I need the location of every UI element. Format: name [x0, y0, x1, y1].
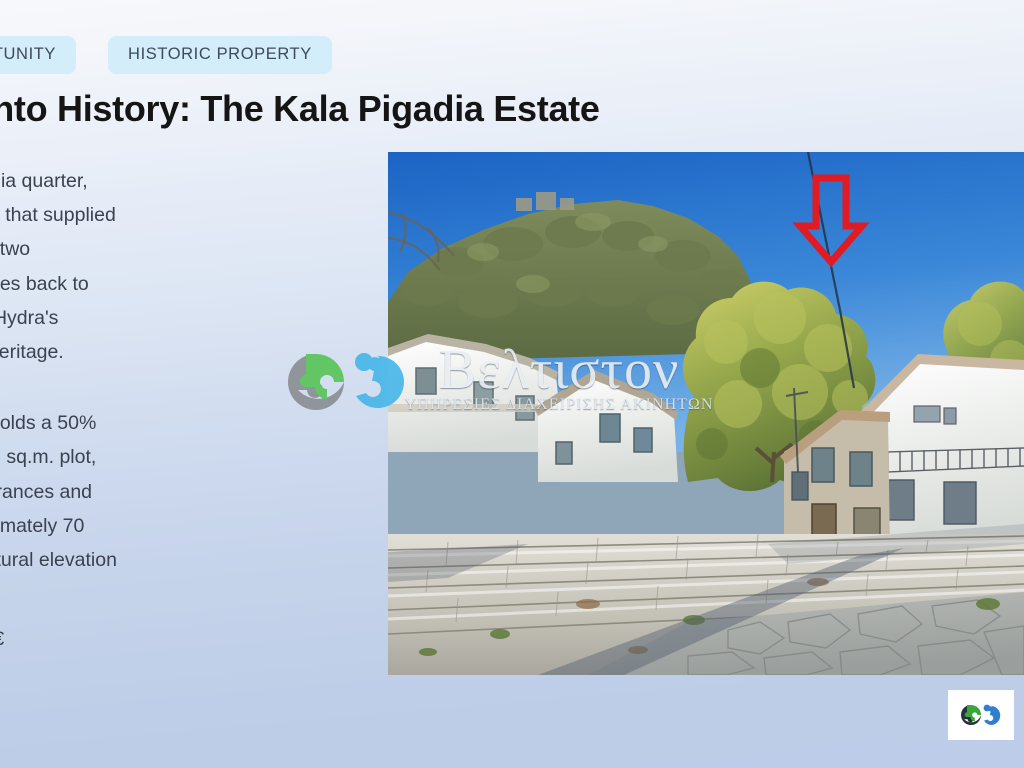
- line: share of the 285 sq.m. plot,: [0, 446, 96, 468]
- puzzle-logo-icon: [958, 695, 1004, 735]
- badge-investment-opportunity[interactable]: T OPPORTUNITY: [0, 36, 76, 74]
- paragraph-history: n the Kala pigadia quarter, ter the two …: [0, 164, 320, 369]
- line: n the Kala pigadia quarter,: [0, 170, 88, 192]
- badge-historic-property[interactable]: HISTORIC PROPERTY: [108, 36, 332, 74]
- line: this property dates back to: [0, 273, 89, 295]
- line: ter the two wells that supplied: [0, 204, 116, 226]
- line: parated by a natural elevation: [0, 549, 117, 571]
- line: rdens of approximately 70: [0, 515, 84, 537]
- line: ndependent entrances and: [0, 481, 92, 503]
- line: s water for over two: [0, 238, 30, 260]
- page-title: mpse into History: The Kala Pigadia Esta…: [0, 86, 600, 131]
- paragraph-ownership: ical ownership holds a 50% share of the …: [0, 406, 320, 611]
- corner-logo[interactable]: [948, 690, 1014, 740]
- price-label: ice : 1.000.000 €: [0, 622, 320, 656]
- property-slide: T OPPORTUNITY HISTORIC PROPERTY mpse int…: [0, 0, 1024, 768]
- property-photo: [388, 152, 1024, 675]
- line: ical ownership holds a 50%: [0, 412, 96, 434]
- line: e architectural heritage.: [0, 341, 64, 363]
- property-description: n the Kala pigadia quarter, ter the two …: [0, 164, 320, 657]
- line: ry, showcasing Hydra's: [0, 307, 58, 329]
- tag-badges: T OPPORTUNITY HISTORIC PROPERTY: [0, 36, 332, 74]
